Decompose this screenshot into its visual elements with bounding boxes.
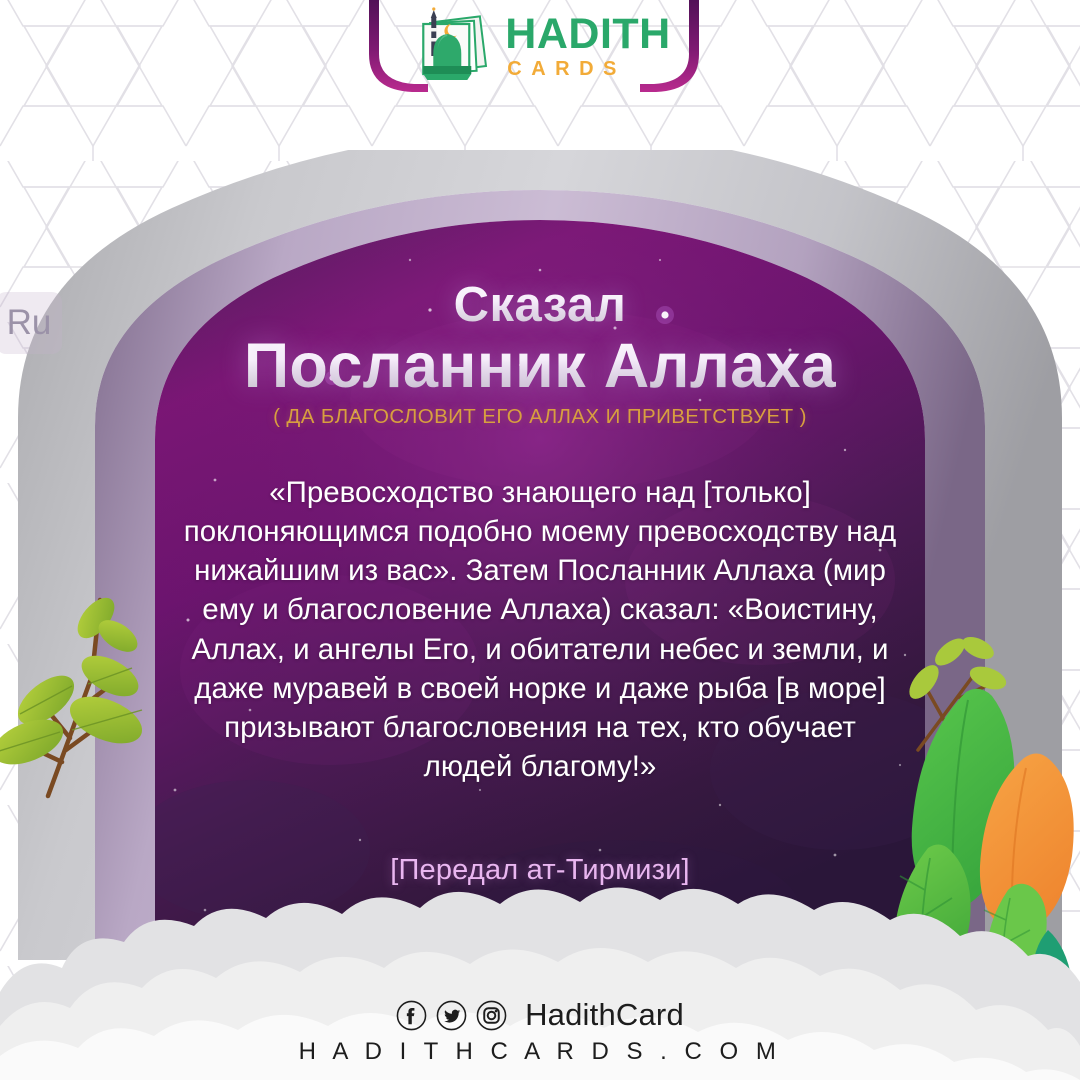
logo-hadith-text: HADITH xyxy=(505,13,670,56)
footer-domain: H A D I T H C A R D S . C O M xyxy=(299,1038,782,1066)
language-badge[interactable]: Ru xyxy=(0,292,62,354)
facebook-icon[interactable] xyxy=(396,1000,427,1031)
footer-social-row: HadithCard xyxy=(396,997,684,1033)
mosque-photo-card-icon xyxy=(409,6,495,86)
logo-cards-text: CARDS xyxy=(507,59,670,79)
instagram-icon[interactable] xyxy=(476,1000,507,1031)
footer-handle: HadithCard xyxy=(525,997,684,1033)
language-badge-label: Ru xyxy=(7,303,52,343)
twitter-icon[interactable] xyxy=(436,1000,467,1031)
site-logo[interactable]: HADITH CARDS xyxy=(409,6,670,86)
footer: HadithCard H A D I T H C A R D S . C O M xyxy=(0,997,1080,1066)
hadith-card: HADITH CARDS Ru xyxy=(0,0,1080,1080)
